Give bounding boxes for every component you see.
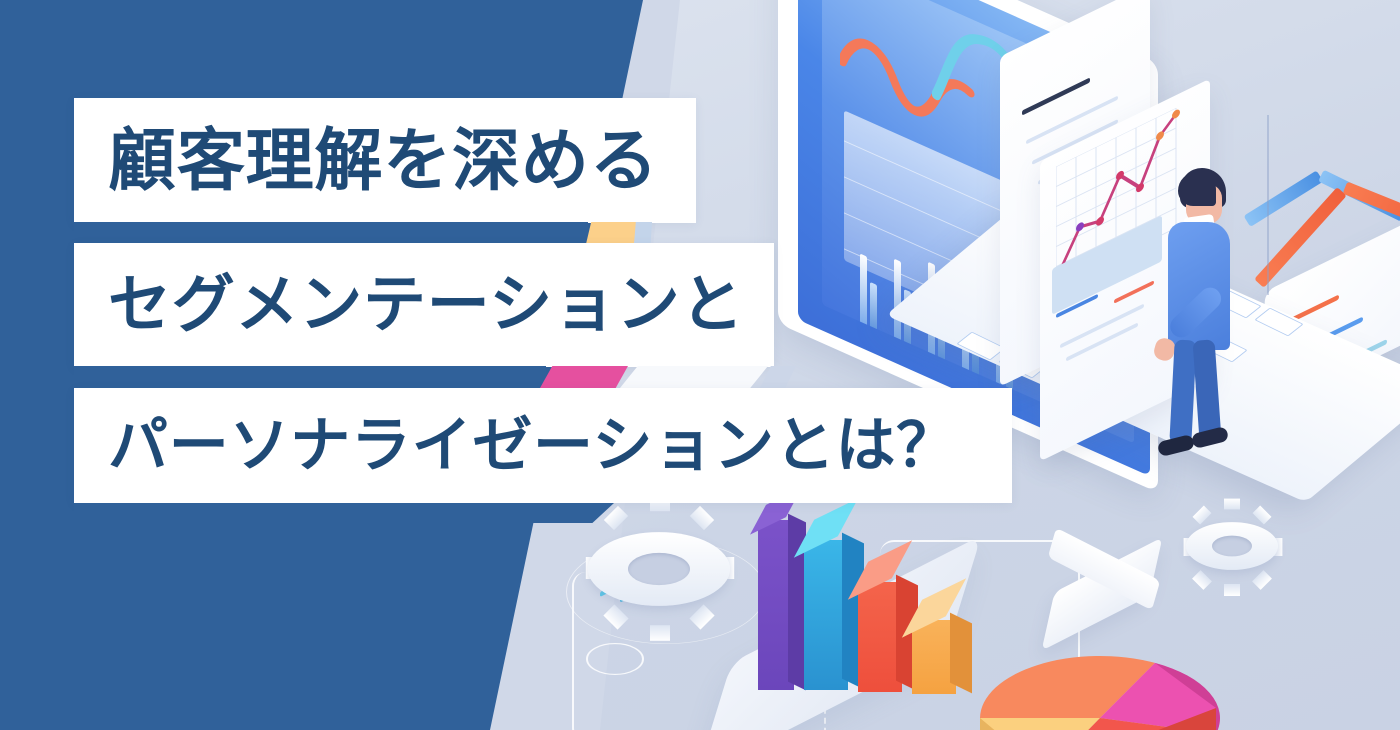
headline-box-line-3: パーソナライゼーションとは？: [74, 388, 1012, 503]
headline-box-line-1: 顧客理解を深める: [74, 98, 696, 223]
headline-box-line-2: セグメンテーションと: [74, 243, 774, 367]
figure-shoe-right: [1191, 426, 1230, 449]
headline-line-1: 顧客理解を深める: [108, 127, 659, 195]
figure-arm: [1166, 283, 1226, 342]
banner-canvas: 顧客理解を深める セグメンテーションと パーソナライゼーションとは？: [0, 0, 1400, 730]
figure-shoe-left: [1157, 434, 1196, 457]
accent-bar-yellow: [586, 222, 638, 244]
accent-bar-grey-1: [634, 222, 652, 244]
figure-hair-front: [1178, 172, 1216, 206]
gear-small: [1186, 500, 1278, 592]
accent-bar-blue-3: [74, 503, 614, 523]
headline-line-2: セグメンテーションと: [108, 274, 744, 337]
accent-bar-blue-1: [74, 222, 588, 244]
headline-group: 顧客理解を深める セグメンテーションと パーソナライゼーションとは？: [0, 0, 1100, 730]
accent-bar-white: [620, 366, 768, 388]
accent-bar-grey-2: [760, 366, 796, 388]
figure-leg-right: [1193, 339, 1222, 440]
figure-suit: [1168, 222, 1230, 350]
businessman-figure: [1140, 168, 1270, 468]
accent-bar-blue-2: [74, 366, 546, 388]
accent-bar-pink: [540, 366, 628, 388]
headline-line-3: パーソナライゼーションとは？: [108, 416, 957, 476]
